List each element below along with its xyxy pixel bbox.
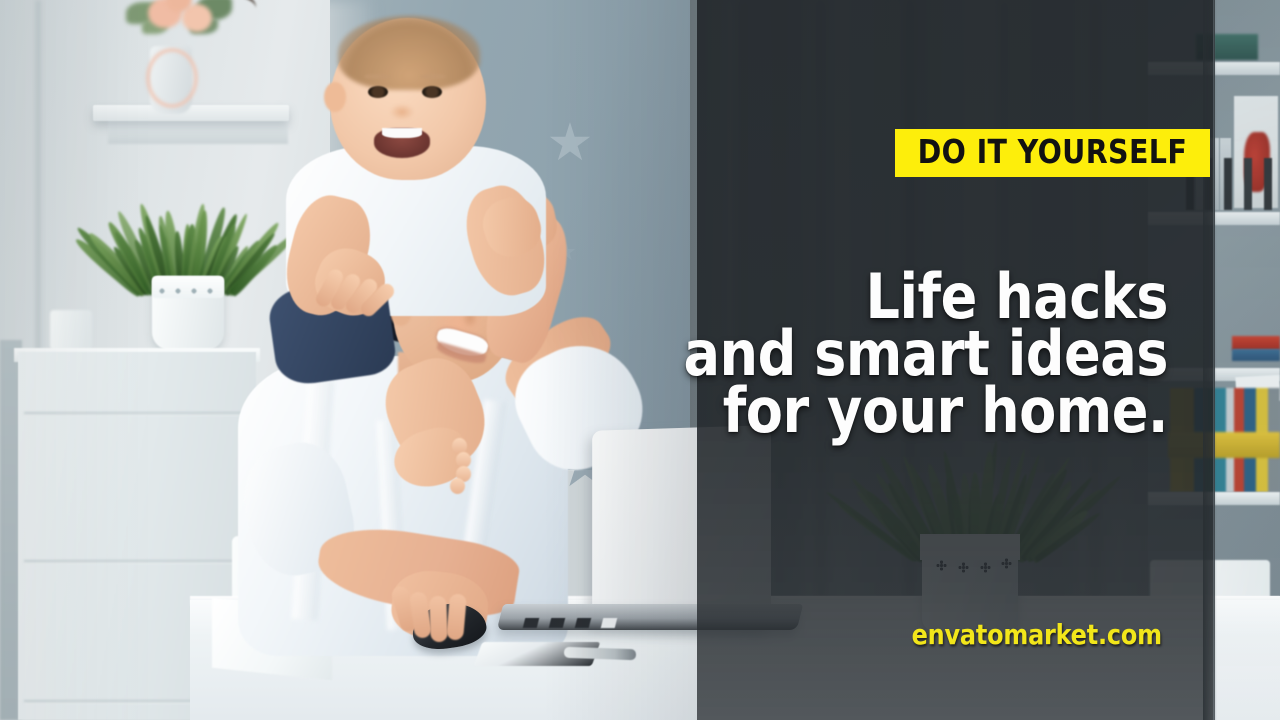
page-title: Life hacks and smart ideas for your home…	[608, 268, 1168, 439]
headline-line-3: for your home.	[625, 382, 1168, 439]
video-frame: DO IT YOURSELF Life hacks and smart idea…	[0, 0, 1280, 720]
scene-vignette	[0, 0, 697, 720]
watermark-url: envatomarket.com	[911, 618, 1161, 651]
right-strip-tint	[1215, 0, 1280, 720]
badge-label: DO IT YOURSELF	[918, 132, 1188, 171]
status-badge: DO IT YOURSELF	[895, 129, 1210, 177]
